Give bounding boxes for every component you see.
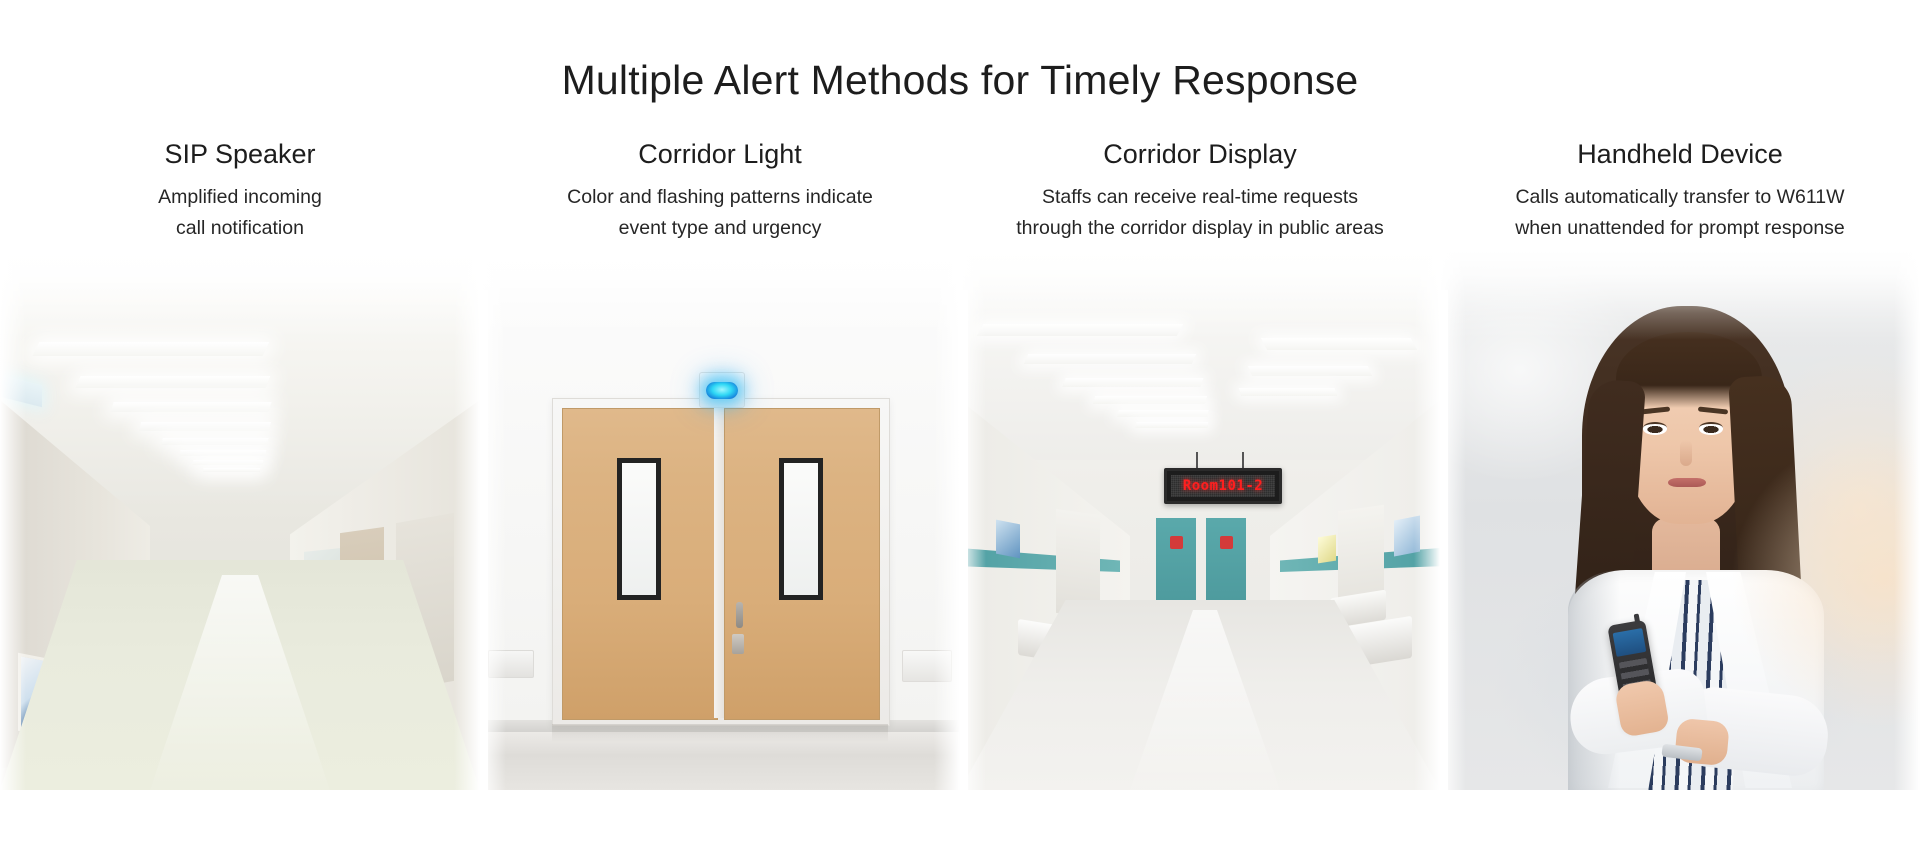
phone-screen: [1613, 628, 1647, 657]
description-line-2: event type and urgency: [490, 213, 950, 244]
ceiling-light-panel: [180, 450, 267, 456]
ceiling-light-panel: [193, 460, 264, 465]
ceiling-light-panel: [161, 438, 268, 445]
page-title: Multiple Alert Methods for Timely Respon…: [0, 58, 1920, 103]
eye-left: [1643, 422, 1667, 435]
ceiling-light-panel: [1261, 338, 1417, 350]
feature-column-corridor-light: Corridor Light Color and flashing patter…: [480, 132, 960, 850]
door-handle: [736, 602, 743, 628]
corridor-light-photo: [480, 250, 960, 790]
column-title-corridor-light: Corridor Light: [638, 140, 802, 174]
description-line-1: Amplified incoming: [10, 182, 470, 213]
feature-columns: SIP Speaker Amplified incoming call noti…: [0, 132, 1920, 850]
ceiling-light-panel: [1024, 354, 1196, 364]
led-display-text: Room101-2: [1183, 478, 1263, 494]
column-title-handheld-device: Handheld Device: [1577, 140, 1783, 174]
eye-right: [1699, 422, 1723, 435]
ceiling-light-panel: [1248, 366, 1372, 376]
description-line-2: when unattended for prompt response: [1450, 213, 1910, 244]
column-description-corridor-light: Color and flashing patterns indicate eve…: [490, 182, 950, 244]
ceiling-light-panel: [139, 422, 271, 431]
door-lock-plate: [732, 634, 744, 654]
description-line-2: through the corridor display in public a…: [970, 213, 1430, 244]
vision-panel-left: [617, 458, 661, 600]
feature-column-corridor-display: Corridor Display Staffs can receive real…: [960, 132, 1440, 850]
wall-box-left: [488, 650, 534, 678]
far-door-right: [1206, 518, 1246, 600]
led-matrix-panel: Room101-2: [1171, 475, 1275, 497]
feature-column-handheld-device: Handheld Device Calls automatically tran…: [1440, 132, 1920, 850]
wall-sign-right: [1318, 535, 1336, 564]
ceiling-light-panel: [1117, 410, 1208, 417]
description-line-1: Calls automatically transfer to W611W: [1450, 182, 1910, 213]
column-description-sip-speaker: Amplified incoming call notification: [10, 182, 470, 244]
ceiling-light-panel: [1093, 396, 1207, 404]
nurse-with-phone-scene: [1440, 250, 1920, 790]
wall-poster-left: [996, 520, 1020, 559]
ceiling-light-panel: [33, 342, 270, 356]
column-title-sip-speaker: SIP Speaker: [164, 140, 315, 174]
alert-methods-infographic: Multiple Alert Methods for Timely Respon…: [0, 0, 1920, 850]
description-line-2: call notification: [10, 213, 470, 244]
wall-box-right: [902, 650, 952, 682]
door-sign-left: [1170, 536, 1183, 549]
mouth: [1668, 478, 1706, 487]
ceiling-light-panel: [1062, 378, 1203, 387]
ward-door-scene: [480, 250, 960, 790]
far-door-left: [1156, 518, 1196, 600]
column-description-handheld-device: Calls automatically transfer to W611W wh…: [1450, 182, 1910, 244]
ceiling-light-panel: [110, 402, 271, 412]
wall-poster-right: [1394, 515, 1420, 556]
door-shadow: [552, 724, 888, 742]
corridor-light-indicator-icon: [706, 382, 738, 399]
vision-panel-right: [779, 458, 823, 600]
sip-speaker-photo: [0, 250, 480, 790]
corridor-display-scene: Room101-2: [960, 250, 1440, 790]
handheld-device-photo: [1440, 250, 1920, 790]
ceiling-light-panel: [203, 468, 260, 472]
door-mullion: [714, 408, 724, 718]
ceiling-light-panel: [1136, 422, 1209, 428]
feature-column-sip-speaker: SIP Speaker Amplified incoming call noti…: [0, 132, 480, 850]
ceiling-light-panel: [1239, 388, 1338, 396]
column-title-corridor-display: Corridor Display: [1103, 140, 1297, 174]
description-line-1: Color and flashing patterns indicate: [490, 182, 950, 213]
description-line-1: Staffs can receive real-time requests: [970, 182, 1430, 213]
ceiling-light-panel: [977, 324, 1183, 336]
corridor-light-housing: [699, 372, 745, 408]
nose: [1680, 440, 1692, 466]
column-description-corridor-display: Staffs can receive real-time requests th…: [970, 182, 1430, 244]
ceiling-light-panel: [76, 376, 271, 388]
corridor-led-display: Room101-2: [1164, 468, 1282, 504]
reception-corridor-scene: [0, 250, 480, 790]
corridor-display-photo: Room101-2: [960, 250, 1440, 790]
door-sign-right: [1220, 536, 1233, 549]
